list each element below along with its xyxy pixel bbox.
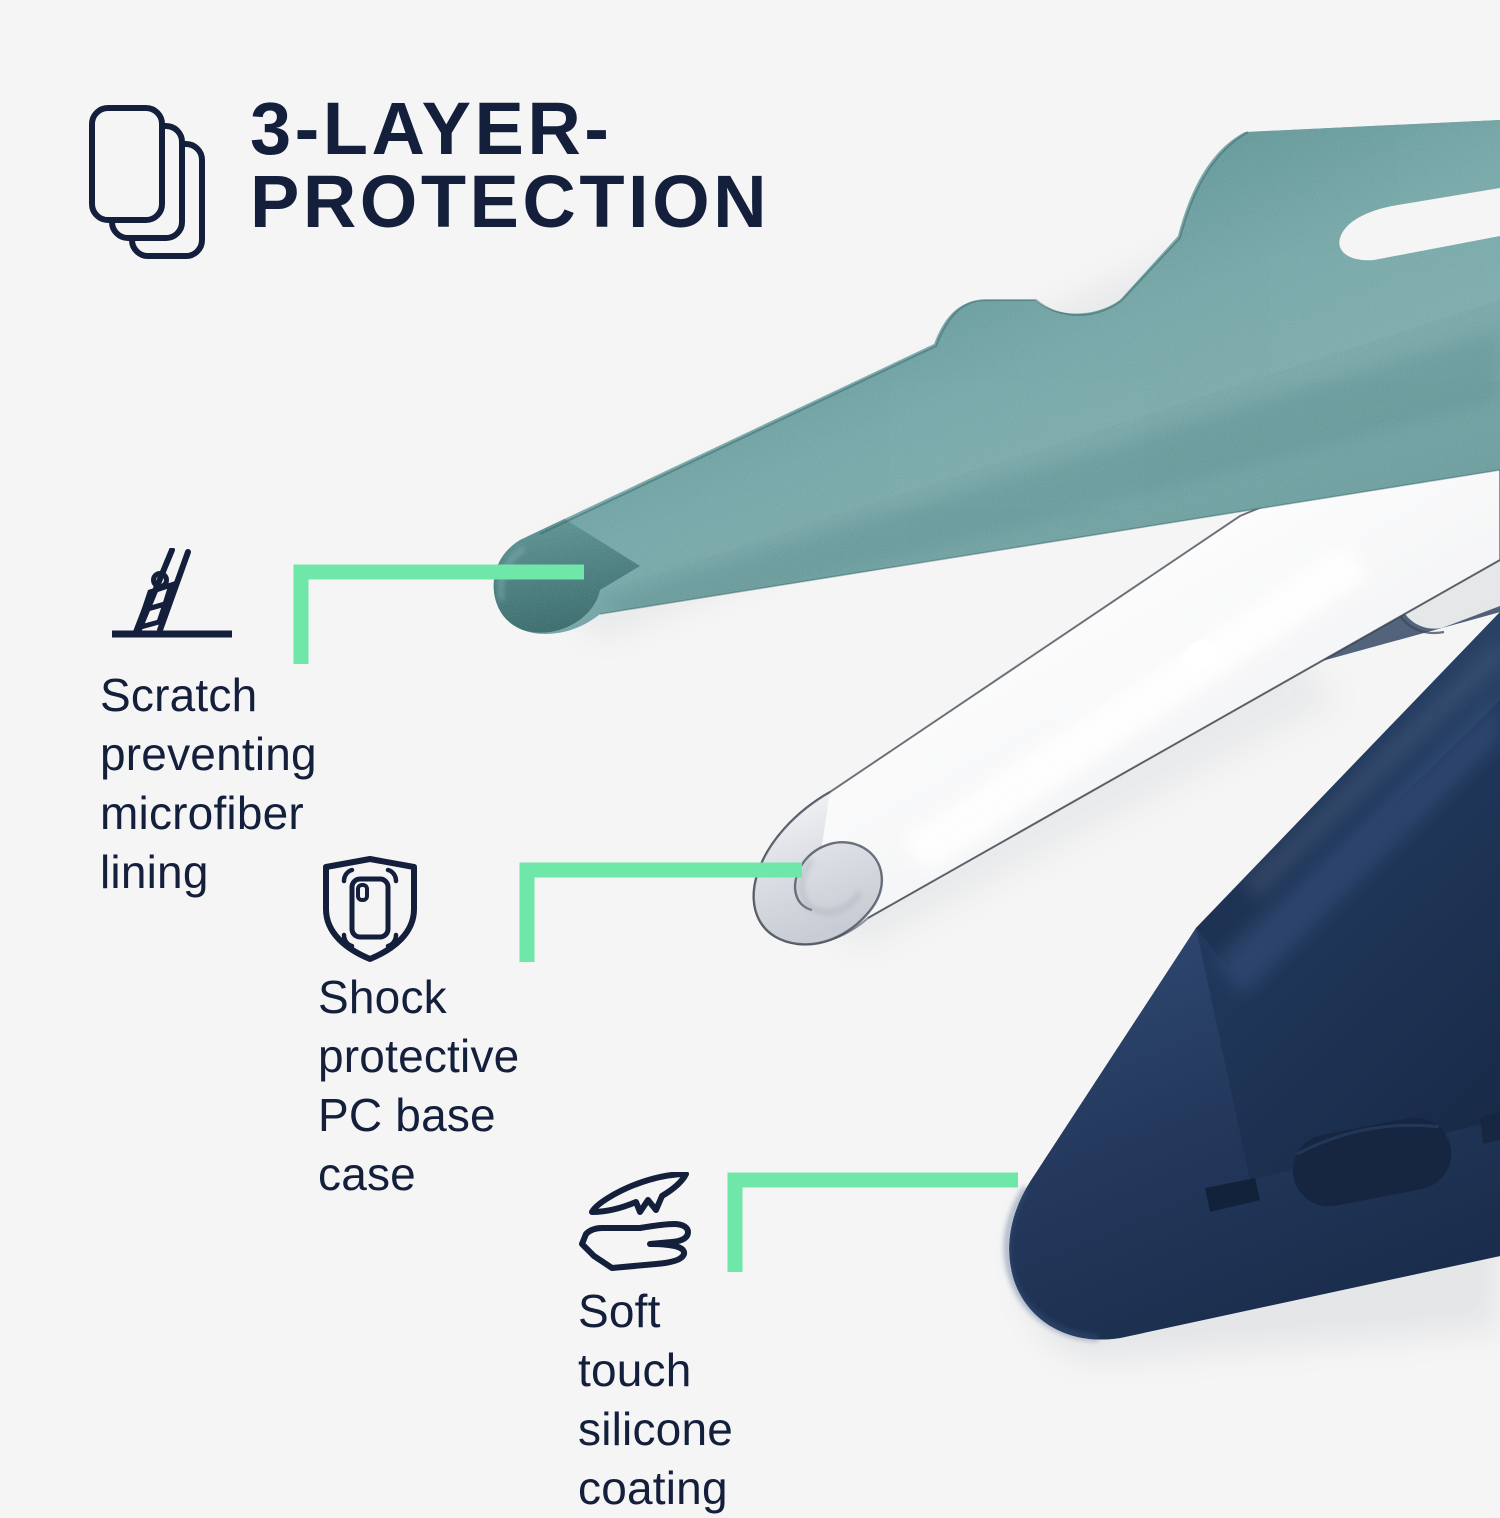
header: 3-Layer- Protection	[84, 92, 770, 267]
pc-base-case-layer	[754, 408, 1500, 950]
port-cutouts	[1205, 1111, 1500, 1212]
silicone-case-group	[1007, 430, 1500, 1360]
feather-hand-icon	[578, 1172, 700, 1281]
speaker-slot	[1205, 1178, 1260, 1212]
camera-cutout	[1398, 540, 1500, 629]
stacked-layers-icon	[84, 102, 216, 267]
connector-line-scratch	[292, 560, 592, 670]
connector-line-shock	[518, 858, 808, 968]
button-cutout	[1183, 641, 1217, 672]
infographic-canvas: 3-Layer- Protection Scratch preventing m…	[0, 0, 1500, 1500]
shield-phone-icon	[318, 855, 422, 970]
connector-line-soft-touch	[726, 1168, 1026, 1278]
pc-sheet	[754, 408, 1500, 944]
feature-label-shock-protective: Shock protective PC base case	[318, 968, 519, 1204]
page-title: 3-Layer- Protection	[250, 92, 770, 239]
blade-knife-icon	[110, 548, 240, 653]
feature-label-soft-touch: Soft touch silicone coating	[578, 1282, 733, 1518]
phone-back-panel	[1180, 430, 1500, 700]
silicone-case-body	[1009, 612, 1500, 1340]
feature-label-scratch-preventing: Scratch preventing microfiber lining	[100, 666, 317, 902]
charging-port	[1287, 1111, 1458, 1212]
microfiber-camera-cutout	[1339, 188, 1500, 260]
case-bottom-face	[1009, 928, 1500, 1340]
